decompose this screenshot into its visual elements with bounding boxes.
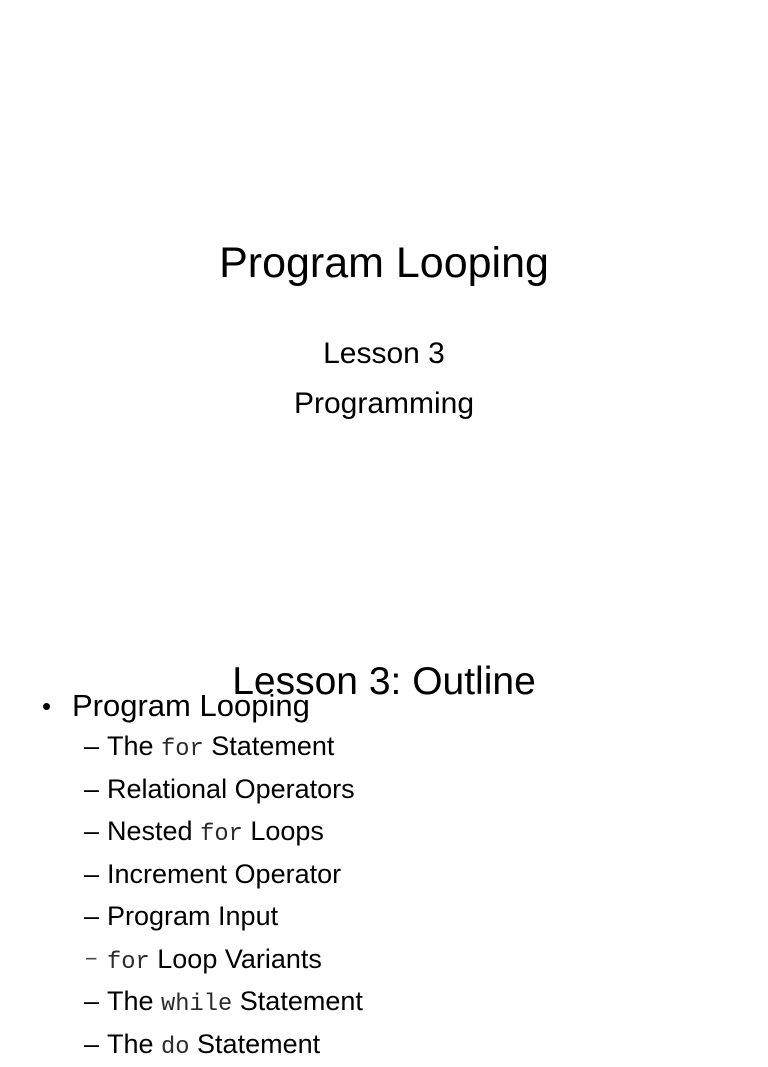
outline-list: • Program Looping – The for Statement – … — [0, 685, 768, 1067]
list-item-while-statement: – The while Statement — [0, 982, 768, 1025]
list-item-program-input: – Program Input — [0, 897, 768, 940]
dash-icon: – — [84, 982, 99, 1022]
list-item-do-statement: – The do Statement — [0, 1025, 768, 1067]
sub-item-text-prefix: Program Input — [107, 901, 278, 931]
sub-item-text-suffix: Statement — [204, 731, 335, 761]
dash-icon: – — [84, 897, 99, 937]
list-item-for-statement: – The for Statement — [0, 727, 768, 770]
title-slide: Program Looping Lesson 3 Programming — [0, 0, 768, 560]
sub-item-code: while — [161, 991, 232, 1018]
list-item-level1: • Program Looping — [0, 685, 768, 727]
sub-item-text-suffix: Loop Variants — [150, 944, 322, 974]
sub-item-text-suffix: Statement — [190, 1029, 321, 1059]
sub-item-text-prefix: Increment Operator — [107, 859, 341, 889]
sub-item-text-prefix: The — [107, 731, 161, 761]
sub-item-text-prefix: Relational Operators — [107, 774, 355, 804]
sub-item-code: do — [161, 1034, 190, 1061]
slide-page: Program Looping Lesson 3 Programming Les… — [0, 0, 768, 1024]
list-item-nested-for-loops: – Nested for Loops — [0, 812, 768, 855]
dash-icon: – — [84, 1025, 99, 1065]
sub-item-text-prefix: The — [107, 986, 161, 1016]
dash-icon: – — [84, 770, 99, 810]
list-item-relational-operators: – Relational Operators — [0, 770, 768, 813]
subtitle-course: Programming — [0, 379, 768, 429]
subtitle-block: Lesson 3 Programming — [0, 329, 768, 429]
subtitle-lesson: Lesson 3 — [0, 329, 768, 379]
dash-icon: – — [84, 940, 98, 980]
dash-icon: – — [84, 727, 99, 767]
sub-item-code: for — [200, 821, 243, 848]
list-item-for-loop-variants: – for Loop Variants — [0, 940, 768, 983]
sub-item-code: for — [107, 949, 150, 976]
sub-item-text-prefix: Nested — [107, 816, 200, 846]
sub-item-text-prefix: The — [107, 1029, 161, 1059]
list-item-increment-operator: – Increment Operator — [0, 855, 768, 898]
sub-item-text-suffix: Loops — [243, 816, 324, 846]
bullet-icon: • — [42, 685, 51, 727]
page-title: Program Looping — [0, 237, 768, 289]
outline-slide: Lesson 3: Outline • Program Looping – Th… — [0, 560, 768, 1024]
dash-icon: – — [84, 812, 99, 852]
dash-icon: – — [84, 855, 99, 895]
list-item-level1-label: Program Looping — [72, 688, 310, 723]
sub-item-text-suffix: Statement — [232, 986, 363, 1016]
sub-item-code: for — [161, 736, 204, 763]
